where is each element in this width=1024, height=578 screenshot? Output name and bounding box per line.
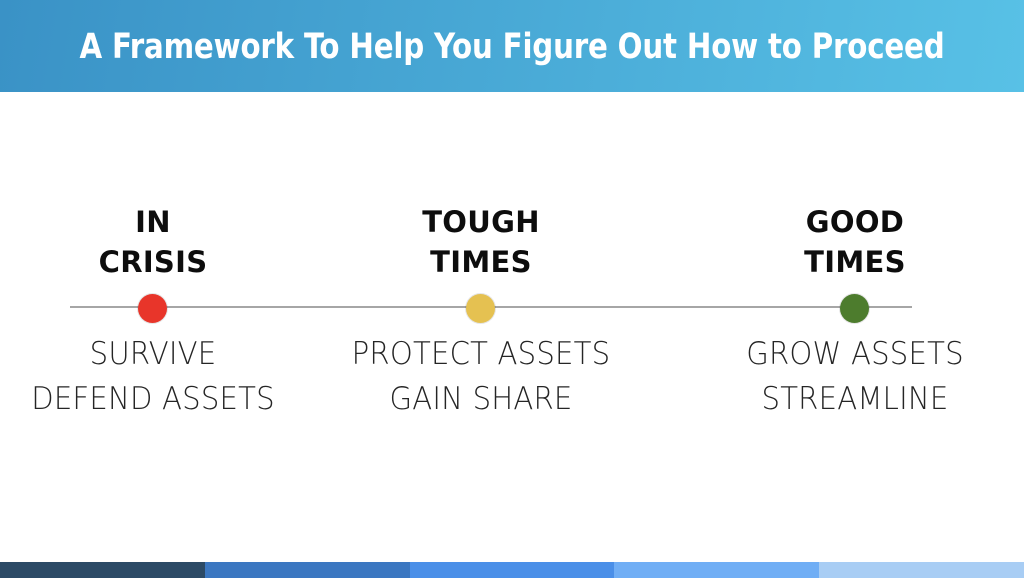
stage-heading: TOUGH TIMES xyxy=(311,202,651,282)
slide-title-bar: A Framework To Help You Figure Out How t… xyxy=(0,0,1024,92)
stage-dot-container xyxy=(0,282,323,332)
timeline-stage-tough-times: TOUGH TIMES PROTECT ASSETS GAIN SHARE xyxy=(311,202,651,422)
footer-segment xyxy=(410,562,615,578)
page-title: A Framework To Help You Figure Out How t… xyxy=(80,30,945,65)
stage-actions: GROW ASSETS STREAMLINE xyxy=(695,332,1015,422)
stage-actions: SURVIVE DEFEND ASSETS xyxy=(0,332,313,422)
stage-heading: IN CRISIS xyxy=(0,202,323,282)
yellow-dot-icon xyxy=(466,294,495,323)
footer-segment xyxy=(614,562,819,578)
stage-heading: GOOD TIMES xyxy=(685,202,1024,282)
slide-content-area: IN CRISIS SURVIVE DEFEND ASSETS TOUGH TI… xyxy=(0,92,1024,562)
red-dot-icon xyxy=(138,294,167,323)
footer-color-bar xyxy=(0,562,1024,578)
stage-dot-container xyxy=(685,282,1024,332)
stage-actions: PROTECT ASSETS GAIN SHARE xyxy=(321,332,641,422)
footer-segment xyxy=(205,562,410,578)
timeline-stage-good-times: GOOD TIMES GROW ASSETS STREAMLINE xyxy=(685,202,1024,422)
footer-segment xyxy=(0,562,205,578)
stage-dot-container xyxy=(311,282,651,332)
timeline-stage-in-crisis: IN CRISIS SURVIVE DEFEND ASSETS xyxy=(0,202,323,422)
green-dot-icon xyxy=(840,294,869,323)
footer-segment xyxy=(819,562,1024,578)
